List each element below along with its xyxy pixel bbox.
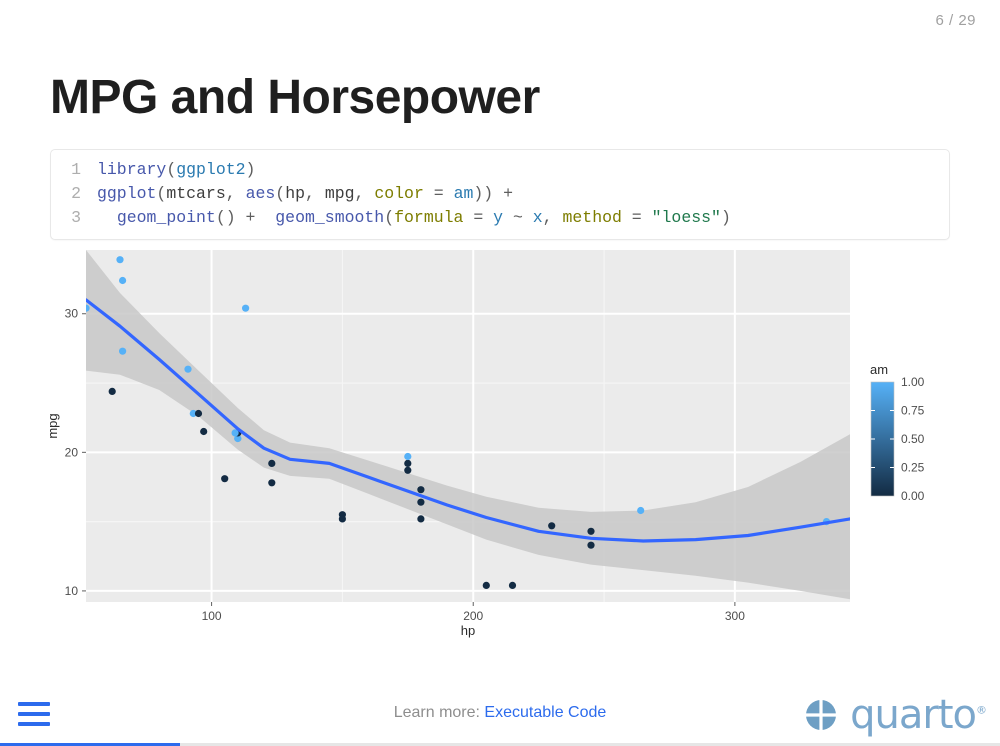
code-token: ( [156,184,166,203]
code-token: geom_point [117,208,216,227]
code-token: ( [166,160,176,179]
scatter-point [548,522,555,529]
code-line-text: ggplot(mtcars, aes(hp, mpg, color = am))… [97,182,523,206]
scatter-point [268,460,275,467]
scatter-point [195,410,202,417]
code-token: y [493,208,503,227]
page-counter: 6 / 29 [935,12,976,29]
scatter-point [242,305,249,312]
code-token: method [562,208,621,227]
scatter-point [268,479,275,486]
x-tick-label: 100 [202,609,222,623]
code-token: formula [394,208,463,227]
code-token: am [454,184,474,203]
code-line-text: library(ggplot2) [97,158,255,182]
legend-tick-label: 0.50 [901,432,925,446]
slide-footer: Learn more: Executable Code quarto® [0,690,1000,746]
code-token: + [236,208,266,227]
legend-tick-label: 1.00 [901,375,925,389]
scatter-point [417,499,424,506]
scatter-point [404,460,411,467]
y-tick-label: 20 [65,445,79,459]
code-token: ) [721,208,731,227]
colorbar-legend: am 1.000.750.500.250.00 [870,362,925,503]
scatter-point [184,366,191,373]
code-line: 2ggplot(mtcars, aes(hp, mpg, color = am)… [51,182,949,206]
registered-mark: ® [976,704,986,717]
quarto-wordmark: quarto® [850,695,986,735]
x-tick-label: 300 [725,609,745,623]
code-line-number: 3 [51,206,97,230]
code-token: , [305,184,325,203]
scatter-point [119,277,126,284]
menu-bar-3 [18,722,50,726]
scatter-point [109,388,116,395]
code-token: , [543,208,563,227]
code-token: ggplot [97,184,156,203]
learn-more-prefix: Learn more: [394,704,480,721]
code-block: 1library(ggplot2)2ggplot(mtcars, aes(hp,… [50,149,950,240]
code-token: )) [473,184,493,203]
code-token: , [226,184,246,203]
code-line: 1library(ggplot2) [51,158,949,182]
code-token: = [463,208,493,227]
scatter-point [483,582,490,589]
scatter-point [116,256,123,263]
code-token: x [533,208,543,227]
scatter-point [587,528,594,535]
legend-tick-label: 0.75 [901,404,925,418]
code-token: , [355,184,375,203]
code-token: = [424,184,454,203]
code-line: 3 geom_point() + geom_smooth(formula = y… [51,206,949,230]
x-tick-label: 200 [463,609,483,623]
code-token: library [97,160,166,179]
code-token: hp [285,184,305,203]
scatter-point [417,515,424,522]
code-token: mpg [325,184,355,203]
x-axis-label: hp [461,623,475,638]
quarto-wordmark-text: quarto [850,692,976,738]
code-token: ( [384,208,394,227]
code-token: ) [246,160,256,179]
scatter-point [119,348,126,355]
legend-tick-label: 0.25 [901,461,925,475]
code-token: ggplot2 [176,160,245,179]
code-token: = [622,208,652,227]
quarto-logo-icon [801,695,841,735]
y-tick-label: 10 [65,584,79,598]
code-token [97,208,117,227]
scatter-point [200,428,207,435]
slide-container: 6 / 29 MPG and Horsepower 1library(ggplo… [0,0,1000,746]
code-token: geom_smooth [275,208,384,227]
quarto-brand: quarto® [801,695,986,735]
scatter-point [82,305,89,312]
scatter-point [587,542,594,549]
scatter-point [417,486,424,493]
code-token: ~ [503,208,533,227]
code-line-number: 1 [51,158,97,182]
code-token [265,208,275,227]
code-token: ( [275,184,285,203]
scatter-point [404,453,411,460]
scatter-point [339,515,346,522]
code-token: "loess" [652,208,721,227]
plot-svg: 100200300102030 hp mpg am 1.000.750.500.… [40,243,960,643]
code-token: () [216,208,236,227]
code-token: mtcars [166,184,225,203]
code-token: aes [246,184,276,203]
scatter-point [221,475,228,482]
code-line-text: geom_point() + geom_smooth(formula = y ~… [97,206,731,230]
scatter-point [509,582,516,589]
y-tick-label: 30 [65,307,79,321]
legend-tick-label: 0.00 [901,489,925,503]
code-token: color [374,184,424,203]
scatter-point [404,467,411,474]
code-line-number: 2 [51,182,97,206]
page-title: MPG and Horsepower [50,72,540,125]
scatter-point [637,507,644,514]
code-token: + [493,184,523,203]
legend-title: am [870,362,888,377]
scatter-plot-figure: 100200300102030 hp mpg am 1.000.750.500.… [40,243,960,643]
executable-code-link[interactable]: Executable Code [484,704,606,721]
y-axis-label: mpg [45,413,60,438]
